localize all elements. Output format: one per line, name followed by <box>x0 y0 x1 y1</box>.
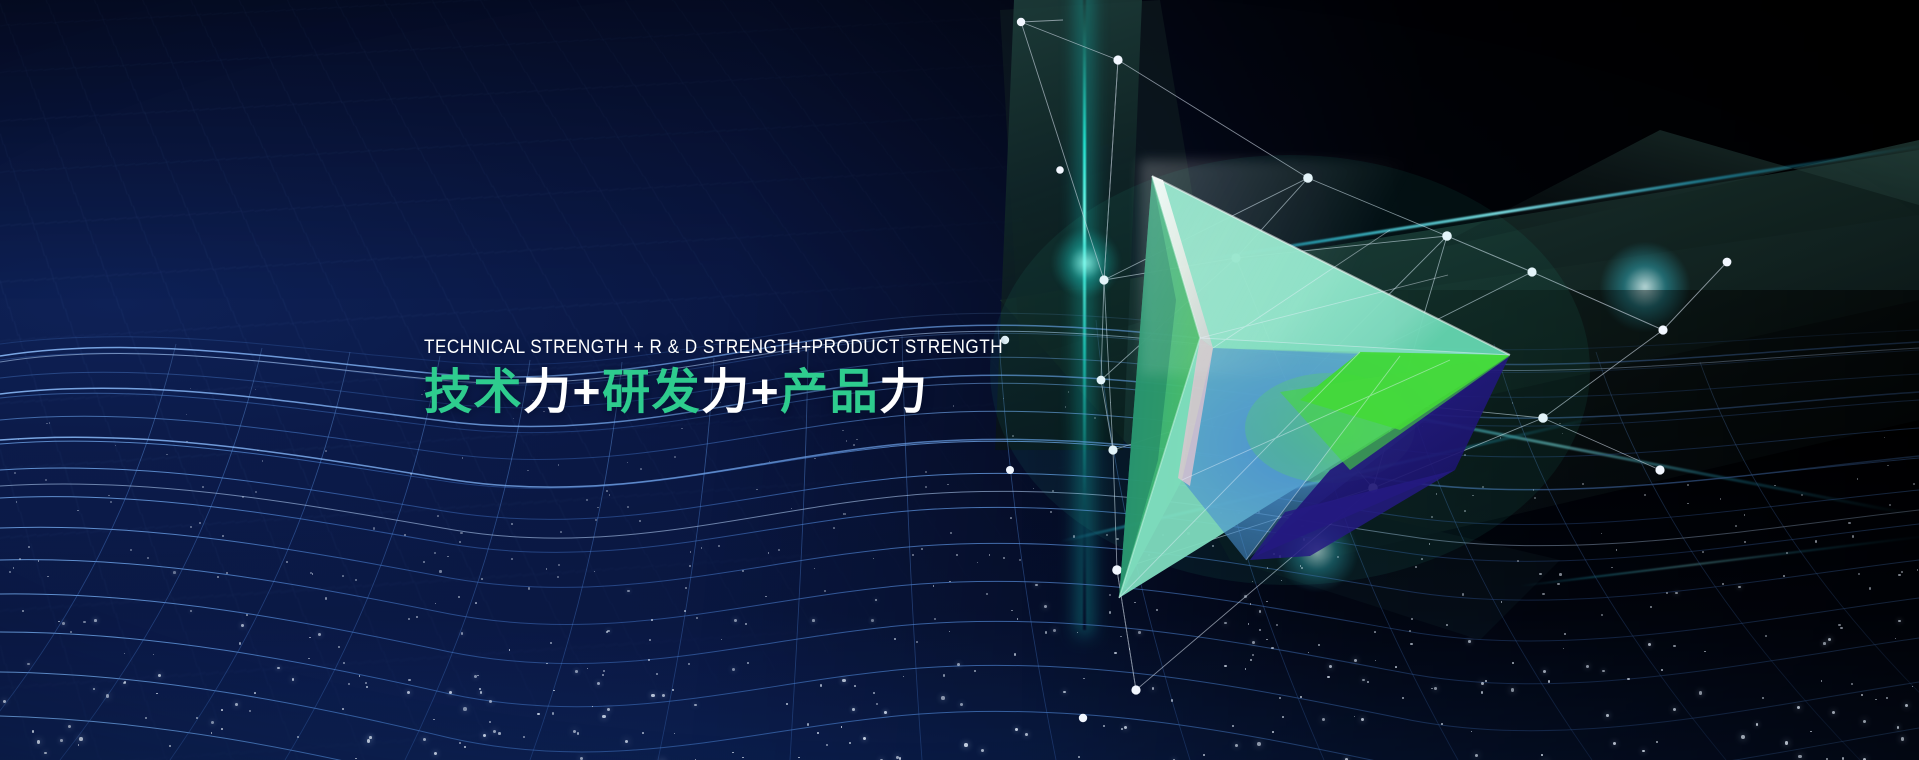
headline-segment-7: 力 <box>879 366 929 419</box>
page-title: 技术力+研发力+产品力 <box>424 366 1044 420</box>
headline-segment-4: 力 <box>701 366 751 419</box>
hero-copy-block: TECHNICAL STRENGTH + R & D STRENGTH+PROD… <box>424 336 1044 420</box>
eyebrow-text: TECHNICAL STRENGTH + R & D STRENGTH+PROD… <box>424 336 970 358</box>
headline-segment-5: + <box>751 366 781 419</box>
headline-segment-2: + <box>573 366 603 419</box>
headline-segment-1: 力 <box>523 366 573 419</box>
hero-banner: TECHNICAL STRENGTH + R & D STRENGTH+PROD… <box>0 0 1919 760</box>
background-top-fade <box>0 0 1919 300</box>
headline-segment-6: 产品 <box>780 366 879 419</box>
headline-segment-3: 研发 <box>602 366 701 419</box>
headline-segment-0: 技术 <box>424 366 523 419</box>
